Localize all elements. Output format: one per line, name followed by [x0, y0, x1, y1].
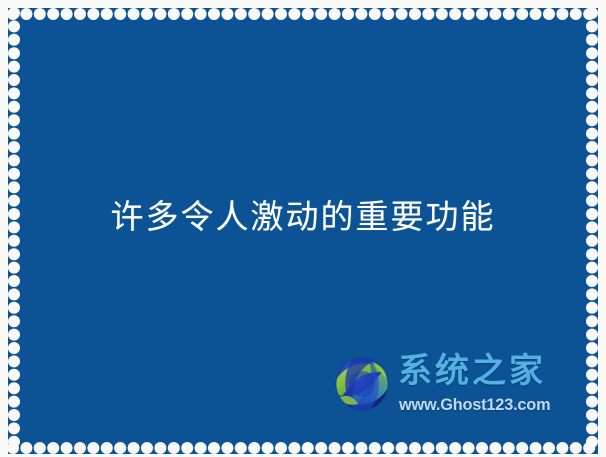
slide-canvas: 许多令人激动的重要功能 — [0, 0, 606, 457]
brand-url: www.Ghost123.com — [399, 396, 574, 415]
watermark-logo: 系统之家 www.Ghost123.com — [330, 352, 580, 424]
slide-headline: 许多令人激动的重要功能 — [0, 196, 606, 237]
globe-sphere-icon — [332, 354, 392, 414]
brand-name: 系统之家 — [398, 353, 580, 390]
watermark-text: 系统之家 www.Ghost123.com — [398, 352, 580, 422]
